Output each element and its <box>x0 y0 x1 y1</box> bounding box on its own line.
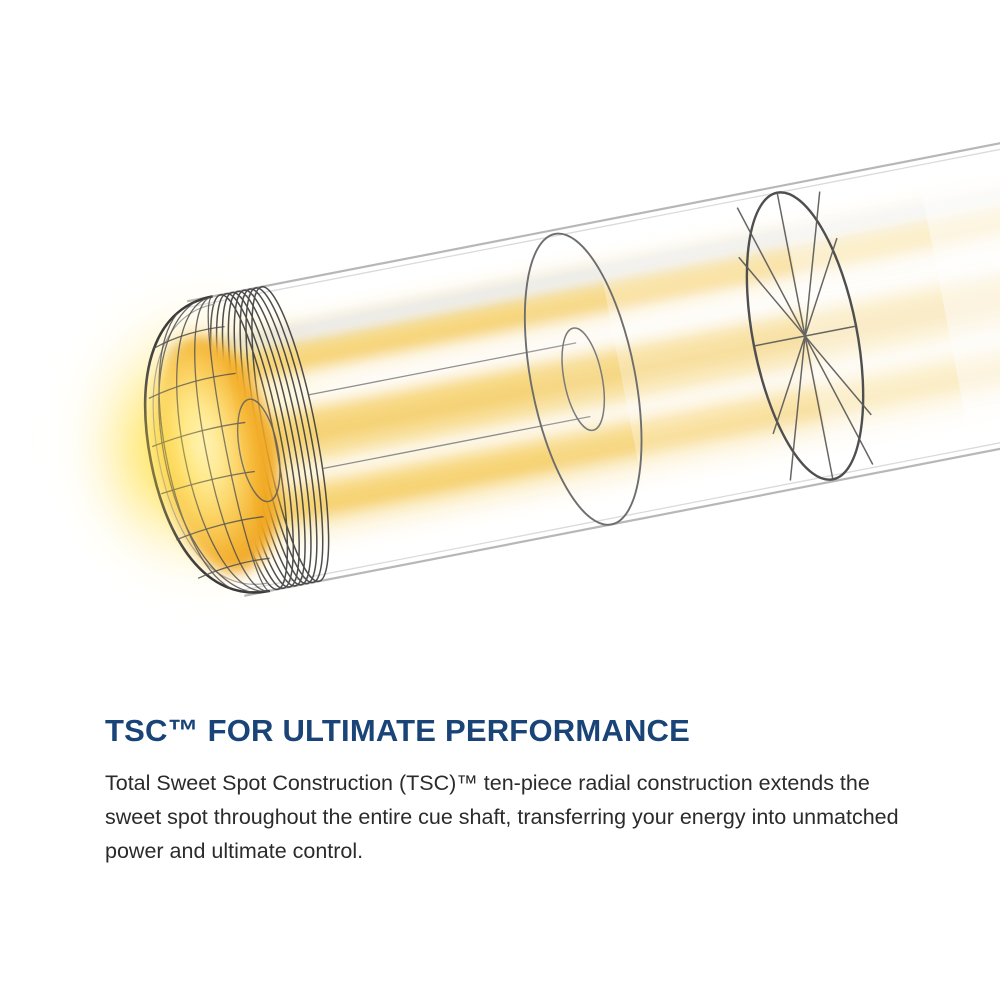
page-title: TSC™ FOR ULTIMATE PERFORMANCE <box>105 712 925 750</box>
caption-block: TSC™ FOR ULTIMATE PERFORMANCE Total Swee… <box>105 712 925 868</box>
tsc-cue-shaft-illustration <box>0 0 1000 690</box>
cue-shaft-diagram <box>0 0 1000 690</box>
description-text: Total Sweet Spot Construction (TSC)™ ten… <box>105 750 905 868</box>
page-root: TSC™ FOR ULTIMATE PERFORMANCE Total Swee… <box>0 0 1000 1000</box>
tip-glow-spill <box>75 335 265 575</box>
